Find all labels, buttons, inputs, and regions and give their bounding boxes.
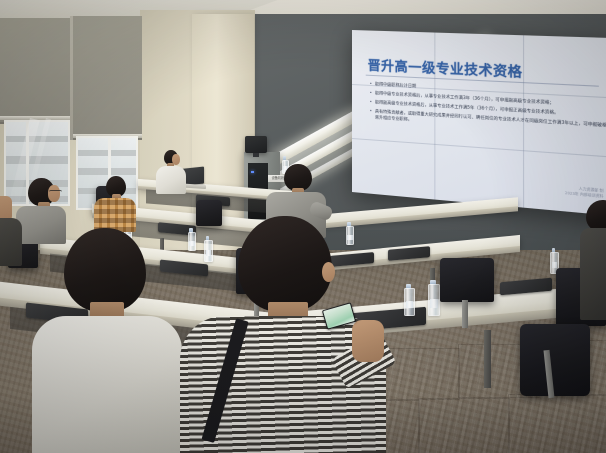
- blind-divider: [70, 16, 73, 140]
- rack-monitor[interactable]: [245, 136, 267, 153]
- chair-post: [462, 300, 468, 328]
- water-bottle[interactable]: [550, 248, 557, 272]
- bullet-marker-icon: •: [370, 99, 372, 105]
- water-bottle[interactable]: [404, 284, 413, 314]
- carpet-tile: [418, 398, 510, 453]
- office-chair[interactable]: [520, 324, 590, 396]
- training-room-photo: 晋升高一级专业技术资格 • 取得中级职称后计日期 • 取得中级专业技术资格后，从…: [0, 0, 606, 453]
- cabinet-status-led-icon: [251, 171, 254, 173]
- person-presenter: [150, 150, 190, 196]
- head: [238, 216, 332, 312]
- head: [64, 228, 146, 312]
- roller-blind-right[interactable]: [72, 16, 142, 140]
- carpet-tile: [508, 394, 606, 453]
- person-attendee-left-edge: [0, 196, 26, 266]
- bullet-marker-icon: •: [370, 108, 372, 119]
- bottle-body: [428, 284, 440, 316]
- head: [284, 164, 312, 191]
- torso: [32, 316, 182, 453]
- bottle-label: [406, 301, 414, 309]
- eyeglasses-icon: [49, 190, 62, 194]
- torso: [0, 218, 22, 266]
- bullet-marker-icon: •: [370, 90, 372, 96]
- torso: [156, 166, 186, 194]
- table-leg: [484, 330, 491, 388]
- office-chair[interactable]: [440, 258, 494, 302]
- hand: [352, 320, 384, 362]
- bottle-label: [430, 299, 438, 308]
- roller-blind-left[interactable]: [0, 18, 72, 124]
- bottle-body: [404, 288, 415, 316]
- video-wall-seam: [434, 33, 435, 200]
- rack-monitor-stand: [253, 153, 259, 157]
- video-wall-seam: [523, 35, 524, 207]
- person-attendee-striped: [186, 216, 396, 453]
- torso: [94, 198, 136, 232]
- ear: [322, 262, 335, 282]
- water-bottle[interactable]: [428, 280, 438, 314]
- video-wall-display[interactable]: 晋升高一级专业技术资格 • 取得中级职称后计日期 • 取得中级专业技术资格后，从…: [352, 30, 606, 216]
- person-attendee-right-edge: [580, 200, 606, 320]
- torso: [580, 228, 606, 320]
- person-attendee-white-shirt: [28, 228, 188, 453]
- person-attendee-plaid: [92, 176, 138, 232]
- bottle-label: [552, 262, 558, 268]
